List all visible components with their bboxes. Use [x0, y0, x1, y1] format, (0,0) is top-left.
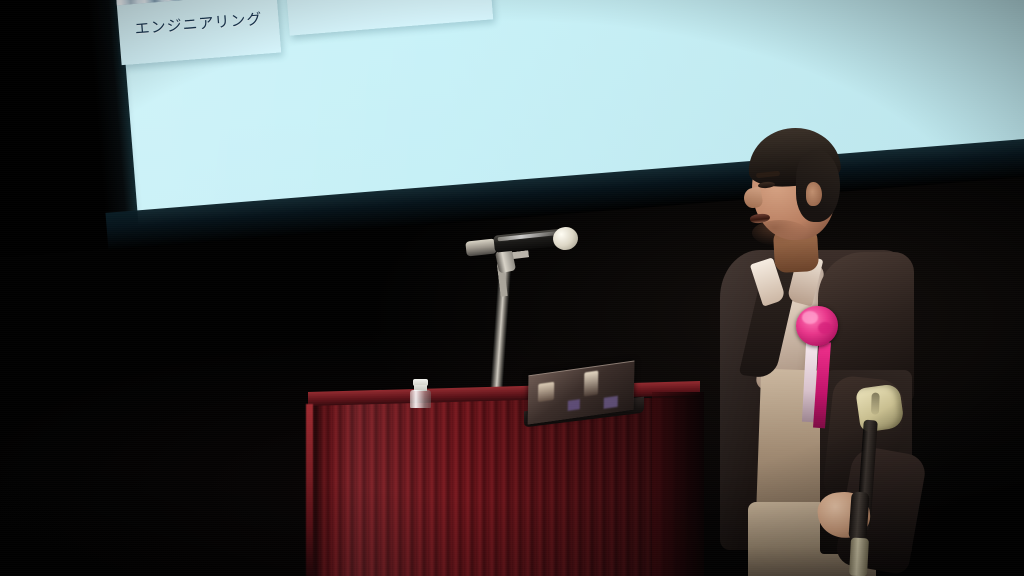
forearm-crutch-grip — [848, 491, 869, 540]
rosette-petal — [802, 311, 818, 324]
podium-right-side — [652, 392, 704, 576]
water-bottle[interactable] — [409, 379, 432, 407]
chin-shadow — [752, 220, 808, 246]
slide-card-environment[interactable]: 環境 — [278, 0, 493, 36]
laptop-screen-reflection — [538, 382, 554, 402]
forearm-crutch-cuff-slot — [871, 392, 880, 414]
nose — [742, 187, 763, 210]
podium-left-edge-highlight — [306, 404, 313, 576]
presenter — [700, 120, 1000, 576]
laptop-screen-reflection — [604, 396, 618, 409]
forearm-crutch-lower-shaft — [849, 538, 869, 576]
microphone-tail-cap — [465, 238, 496, 256]
industrial-machinery-photo — [110, 0, 276, 5]
rosette-petal — [818, 322, 832, 334]
ear — [806, 182, 822, 206]
podium-front-panel — [308, 398, 700, 576]
laptop-screen-reflection — [584, 371, 598, 397]
rosette-corsage — [796, 306, 838, 346]
stage-scene: エンジニアリング 環境 — [0, 0, 1024, 576]
water-bottle-body — [410, 390, 431, 408]
slide-card-engineering[interactable]: エンジニアリング — [110, 0, 281, 65]
slide-card-engineering-label: エンジニアリング — [118, 6, 279, 40]
laptop-screen-reflection — [568, 399, 580, 411]
